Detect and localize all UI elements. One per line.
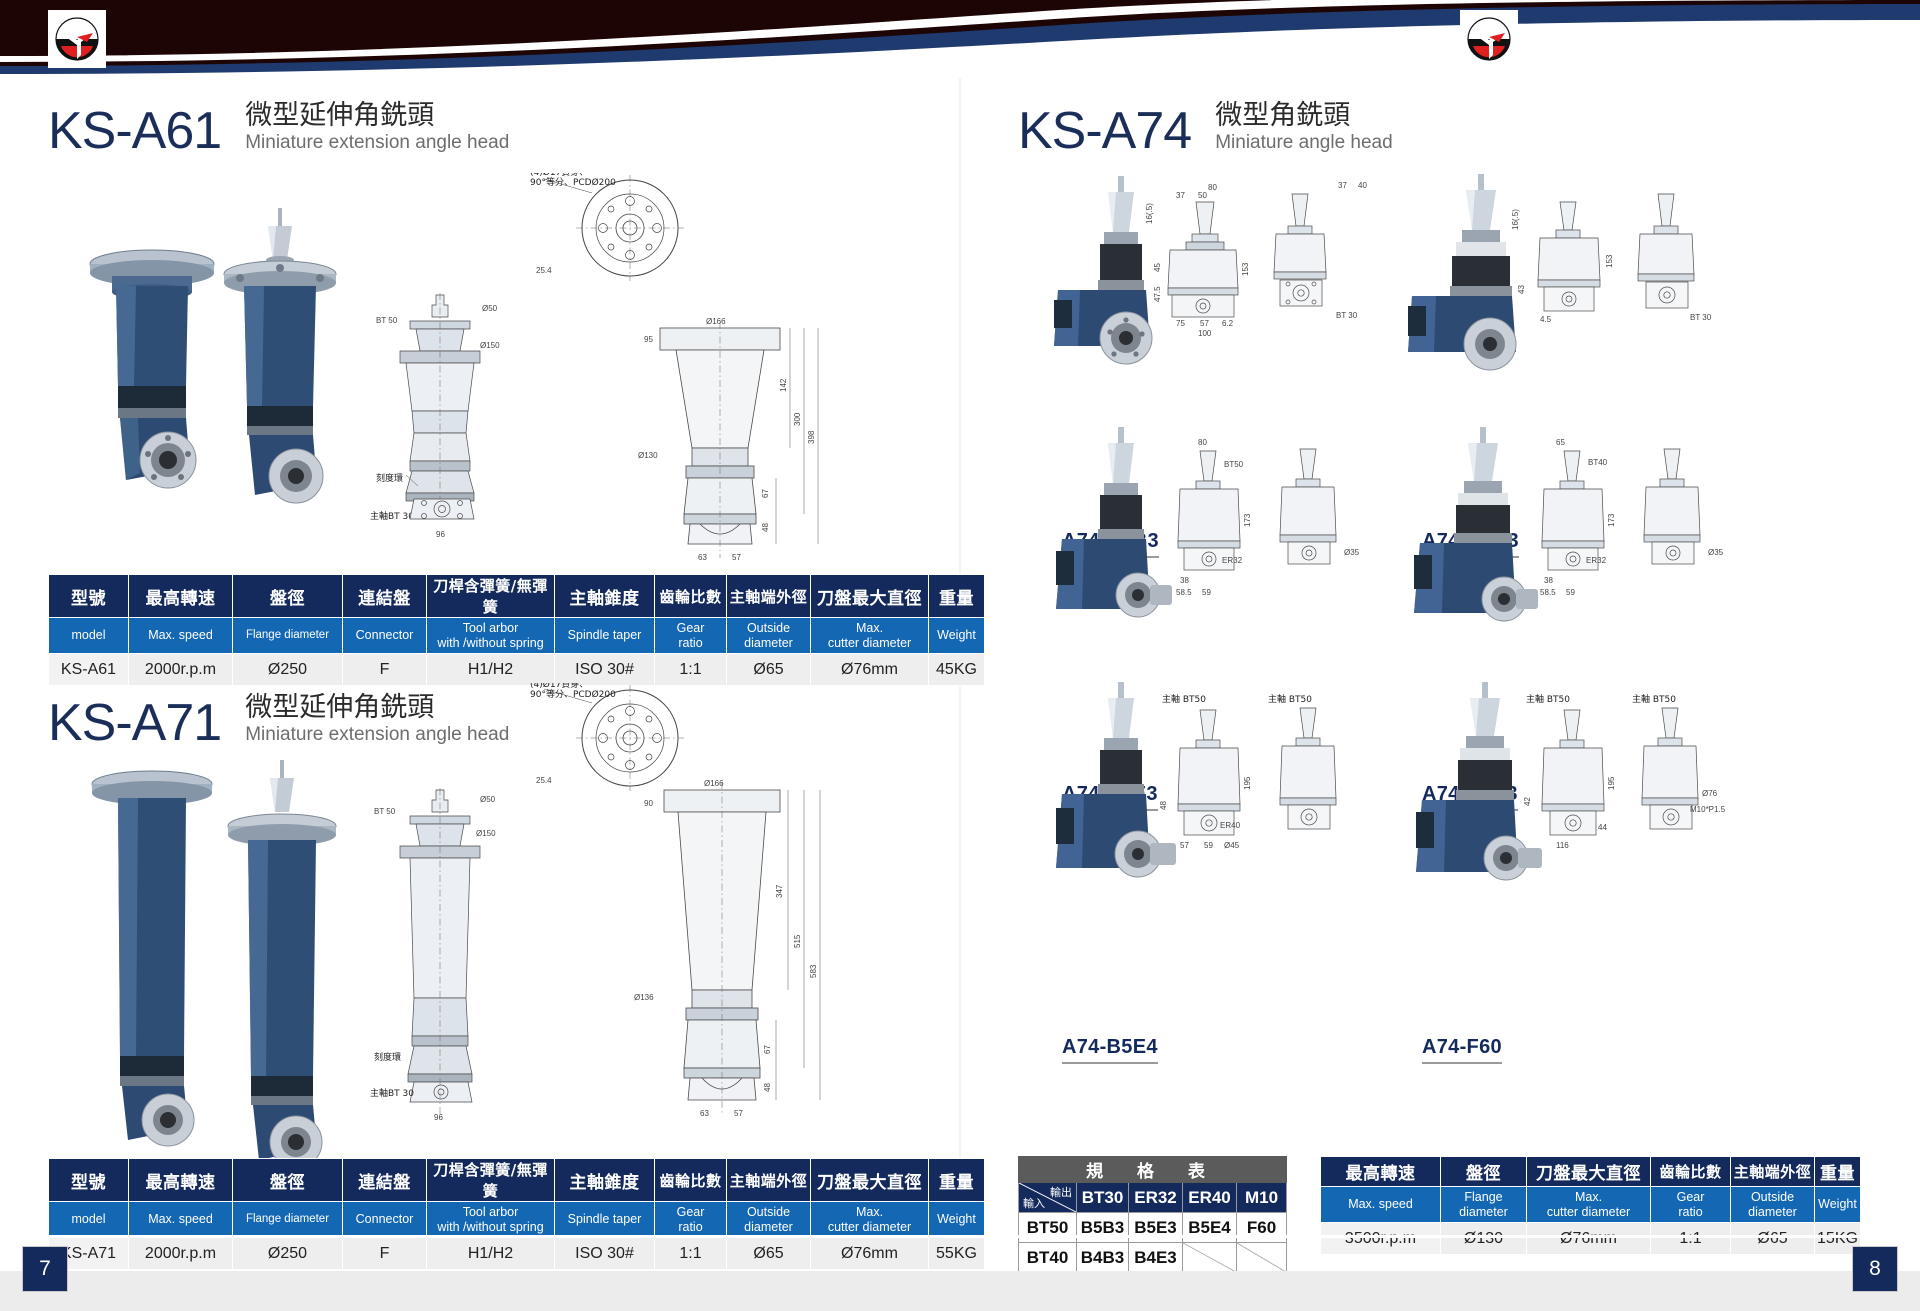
- th-cn-speed: 最高轉速: [1321, 1157, 1441, 1187]
- page-title: KS-A71: [48, 697, 221, 749]
- matrix-title: 規 格 表: [1019, 1157, 1287, 1183]
- dim-d35: Ø35: [1708, 548, 1724, 557]
- product-name-en: Miniature extension angle head: [245, 723, 509, 747]
- matrix-cell-empty: [1237, 1243, 1287, 1273]
- variant-label-a74-f60: A74-F60: [1422, 1036, 1502, 1064]
- th-en-flange: Flange diameter: [1441, 1187, 1527, 1223]
- matrix-row-bt40: BT40 B4B3 B4E3: [1019, 1243, 1287, 1273]
- th-en-cutter: Max. cutter diameter: [811, 1202, 929, 1238]
- catalog-spread: KS-A61 微型延伸角銑頭 Miniature extension angle…: [0, 78, 1920, 1235]
- product-title-ks-a74: KS-A74 微型角銑頭 Miniature angle head: [1018, 100, 1393, 157]
- dim-62: 6.2: [1222, 319, 1234, 328]
- label-spindle-bt50b: 主軸 BT50: [1268, 693, 1312, 705]
- dim-142: 142: [779, 378, 788, 392]
- td-flange: Ø250: [233, 1238, 343, 1270]
- th-en-cutter: Max. cutter diameter: [1527, 1187, 1651, 1223]
- variant-art-a74-b5e3: 80 BT50 173 38 ER32 58.5 59 Ø35: [1000, 423, 1380, 673]
- matrix-row-label: BT50: [1019, 1213, 1077, 1243]
- dim-59: 59: [1204, 841, 1213, 850]
- dim-67: 67: [763, 1045, 772, 1054]
- dim-er40: ER40: [1220, 821, 1241, 830]
- spec-table-ks-a71: 型號 最高轉速 盤徑 連結盤 刀桿含彈簧/無彈簧 主軸錐度 齒輪比數 主軸端外徑…: [48, 1158, 985, 1270]
- variant-art-a74-b4e3: 65 BT40 173 38 ER32 58.5 59 Ø35: [1360, 423, 1740, 673]
- dim-1645: 16(.5): [1511, 209, 1520, 230]
- dim-195: 195: [1607, 776, 1616, 790]
- td-speed: 3500r.p.m: [1321, 1223, 1441, 1255]
- dim-48: 48: [761, 523, 770, 532]
- company-logo-icon: [1465, 15, 1513, 63]
- matrix-title-row: 規 格 表: [1019, 1157, 1287, 1183]
- dim-note-holes2: 90°等分、PCDØ200: [530, 688, 616, 700]
- dim-d35: Ø35: [1344, 548, 1360, 557]
- company-logo-left: [48, 10, 106, 68]
- spec-table-ks-a61: 型號 最高轉速 盤徑 連結盤 刀桿含彈簧/無彈簧 主軸錐度 齒輪比數 主軸端外徑…: [48, 574, 985, 686]
- product-name-cn: 微型角銑頭: [1215, 100, 1392, 131]
- dim-bt50: BT 50: [374, 807, 396, 816]
- matrix-cell: B5E3: [1129, 1213, 1183, 1243]
- matrix-col-er40: ER40: [1183, 1183, 1237, 1213]
- matrix-cell: B4B3: [1077, 1243, 1129, 1273]
- th-cn-speed: 最高轉速: [129, 575, 233, 618]
- label-spindle-bt50: 主軸 BT50: [1526, 693, 1570, 705]
- matrix-row-label: BT40: [1019, 1243, 1077, 1273]
- matrix-cell: B5B3: [1077, 1213, 1129, 1243]
- variant-art-a74-b5b3: 37 50 80 16(.5) 45 47.5 153 75 57 6.2 10…: [1000, 168, 1380, 418]
- left-page: KS-A61 微型延伸角銑頭 Miniature extension angle…: [0, 78, 960, 1235]
- th-en-gear: Gear ratio: [655, 1202, 727, 1238]
- company-logo-right: [1460, 10, 1518, 68]
- dim-bt50: BT 50: [376, 316, 398, 325]
- th-cn-connector: 連結盤: [343, 1159, 427, 1202]
- th-cn-taper: 主軸錐度: [555, 575, 655, 618]
- spec-matrix-table: 規 格 表 輸出 輸入 BT30 ER32 ER40 M10 BT50 B5B3…: [1018, 1156, 1287, 1273]
- th-en-flange: Flange diameter: [233, 618, 343, 654]
- label-scale-ring: 刻度環: [376, 472, 403, 484]
- product-photo-ks-a61: [40, 168, 360, 538]
- td-taper: ISO 30#: [555, 1238, 655, 1270]
- th-en-speed: Max. speed: [129, 1202, 233, 1238]
- dim-d50: Ø50: [482, 304, 498, 313]
- dim-153: 153: [1605, 254, 1614, 268]
- dim-96: 96: [434, 1113, 443, 1122]
- matrix-col-er32: ER32: [1129, 1183, 1183, 1213]
- dim-bt40: BT40: [1588, 458, 1608, 467]
- technical-drawing-elevation-ks-a71: Ø166 Ø136 347 515 583 67 48 90 63 57: [630, 778, 860, 1158]
- matrix-cell: B5E4: [1183, 1213, 1237, 1243]
- dim-48: 48: [1159, 801, 1168, 810]
- page-number-left: 7: [22, 1246, 68, 1292]
- td-outside: Ø65: [1731, 1223, 1815, 1255]
- company-logo-icon: [53, 15, 101, 63]
- page-title: KS-A74: [1018, 105, 1191, 157]
- dim-bt50: BT50: [1224, 460, 1244, 469]
- th-cn-cutter: 刀盤最大直徑: [811, 575, 929, 618]
- dim-43: 43: [1517, 285, 1526, 294]
- th-cn-model: 型號: [49, 575, 129, 618]
- th-cn-gear: 齒輪比數: [655, 1159, 727, 1202]
- td-outside: Ø65: [727, 1238, 811, 1270]
- th-en-connector: Connector: [343, 1202, 427, 1238]
- dim-1645: 16(.5): [1145, 203, 1154, 224]
- th-en-gear: Gear ratio: [655, 618, 727, 654]
- label-spindle-bt50: 主軸 BT50: [1162, 693, 1206, 705]
- th-en-outside: Outside diameter: [727, 618, 811, 654]
- dim-254: 25.4: [536, 776, 552, 785]
- dim-95: 95: [644, 335, 653, 344]
- table-row: 3500r.p.m Ø130 Ø76mm 1:1 Ø65 15KG: [1321, 1223, 1861, 1255]
- right-page: KS-A74 微型角銑頭 Miniature angle head: [960, 78, 1920, 1235]
- th-en-cutter: Max. cutter diameter: [811, 618, 929, 654]
- th-en-flange: Flange diameter: [233, 1202, 343, 1238]
- th-cn-arbor: 刀桿含彈簧/無彈簧: [427, 1159, 555, 1202]
- dim-153: 153: [1241, 262, 1250, 276]
- th-cn-model: 型號: [49, 1159, 129, 1202]
- top-banner: [0, 0, 1920, 78]
- th-cn-flange: 盤徑: [1441, 1157, 1527, 1187]
- dim-585: 58.5: [1540, 588, 1556, 597]
- dim-585: 58.5: [1176, 588, 1192, 597]
- dim-42: 42: [1523, 797, 1532, 806]
- dim-116: 116: [1556, 841, 1569, 850]
- dim-173: 173: [1607, 513, 1616, 527]
- matrix-cell: F60: [1237, 1213, 1287, 1243]
- dim-57: 57: [734, 1109, 743, 1118]
- td-speed: 2000r.p.m: [129, 654, 233, 686]
- dim-96: 96: [436, 530, 445, 539]
- table-header-row-cn: 型號 最高轉速 盤徑 連結盤 刀桿含彈簧/無彈簧 主軸錐度 齒輪比數 主軸端外徑…: [49, 575, 985, 618]
- dim-300: 300: [793, 412, 802, 426]
- dim-48: 48: [763, 1083, 772, 1092]
- label-spindle-bt50b: 主軸 BT50: [1632, 693, 1676, 705]
- td-connector: F: [343, 654, 427, 686]
- th-en-model: model: [49, 1202, 129, 1238]
- dim-254: 25.4: [536, 266, 552, 275]
- dim-note-holes: (4)Ø17貫穿、: [530, 683, 588, 690]
- th-cn-gear: 齒輪比數: [655, 575, 727, 618]
- th-en-arbor: Tool arbor with /without spring: [427, 618, 555, 654]
- th-cn-cutter: 刀盤最大直徑: [811, 1159, 929, 1202]
- td-gear: 1:1: [655, 654, 727, 686]
- dim-note-holes2: 90°等分、PCDØ200: [530, 176, 616, 188]
- dim-63: 63: [698, 553, 707, 562]
- dim-75: 75: [1176, 319, 1185, 328]
- dim-50: 50: [1198, 191, 1207, 200]
- dim-38: 38: [1544, 576, 1553, 585]
- td-flange: Ø250: [233, 654, 343, 686]
- matrix-cell-empty: [1183, 1243, 1237, 1273]
- th-cn-outside: 主軸端外徑: [727, 575, 811, 618]
- technical-drawing-section-ks-a71: BT 50 Ø150 Ø50 刻度環 主軸BT 30 96: [370, 788, 660, 1158]
- product-title-ks-a71: KS-A71 微型延伸角銑頭 Miniature extension angle…: [48, 692, 509, 749]
- matrix-header-row: 輸出 輸入 BT30 ER32 ER40 M10: [1019, 1183, 1287, 1213]
- page-title: KS-A61: [48, 105, 221, 157]
- td-weight: 55KG: [929, 1238, 985, 1270]
- dim-59: 59: [1202, 588, 1211, 597]
- td-cutter: Ø76mm: [811, 654, 929, 686]
- td-outside: Ø65: [727, 654, 811, 686]
- td-speed: 2000r.p.m: [129, 1238, 233, 1270]
- td-connector: F: [343, 1238, 427, 1270]
- dim-45: 45: [1153, 263, 1162, 272]
- table-row: KS-A71 2000r.p.m Ø250 F H1/H2 ISO 30# 1:…: [49, 1238, 985, 1270]
- footer-strip: [0, 1271, 1920, 1311]
- dim-67: 67: [761, 489, 770, 498]
- th-en-gear: Gear ratio: [1651, 1187, 1731, 1223]
- th-cn-gear: 齒輪比數: [1651, 1157, 1731, 1187]
- variant-art-a74-b4b3: 16(.5) 153 43 4.5 BT 30: [1360, 168, 1740, 418]
- th-cn-flange: 盤徑: [233, 575, 343, 618]
- td-gear: 1:1: [1651, 1223, 1731, 1255]
- table-header-row-cn: 型號 最高轉速 盤徑 連結盤 刀桿含彈簧/無彈簧 主軸錐度 齒輪比數 主軸端外徑…: [49, 1159, 985, 1202]
- page-number-right: 8: [1852, 1246, 1898, 1292]
- dim-90: 90: [644, 799, 653, 808]
- dim-d150: Ø150: [476, 829, 496, 838]
- technical-drawing-elevation-ks-a61: Ø166 Ø130 142 300 398 67 48 95 63 57: [630, 318, 860, 578]
- dim-57: 57: [1200, 319, 1209, 328]
- dim-38: 38: [1180, 576, 1189, 585]
- table-row: KS-A61 2000r.p.m Ø250 F H1/H2 ISO 30# 1:…: [49, 654, 985, 686]
- table-header-row-en: model Max. speed Flange diameter Connect…: [49, 1202, 985, 1238]
- td-cutter: Ø76mm: [811, 1238, 929, 1270]
- dim-d45: Ø45: [1224, 841, 1240, 850]
- footer-divider: [0, 1235, 1920, 1238]
- dim-er32: ER32: [1222, 556, 1243, 565]
- th-cn-taper: 主軸錐度: [555, 1159, 655, 1202]
- dim-80: 80: [1198, 438, 1207, 447]
- dim-37b: 37: [1338, 181, 1347, 190]
- table-header-row-cn: 最高轉速 盤徑 刀盤最大直徑 齒輪比數 主軸端外徑 重量: [1321, 1157, 1861, 1187]
- dim-d50: Ø50: [480, 795, 496, 804]
- dim-80: 80: [1208, 183, 1217, 192]
- matrix-corner-output: 輸出: [1050, 1184, 1072, 1200]
- dim-65: 65: [1556, 438, 1565, 447]
- matrix-col-m10: M10: [1237, 1183, 1287, 1213]
- th-cn-outside: 主軸端外徑: [727, 1159, 811, 1202]
- technical-drawing-topview-ks-a61: (4)Ø17貫穿、 90°等分、PCDØ200 25.4: [530, 173, 740, 293]
- td-taper: ISO 30#: [555, 654, 655, 686]
- dim-bt30: BT 30: [1690, 313, 1712, 322]
- label-scale-ring: 刻度環: [374, 1051, 401, 1063]
- dim-d150: Ø150: [480, 341, 500, 350]
- dim-475: 47.5: [1153, 286, 1162, 302]
- dim-d166: Ø166: [704, 779, 724, 788]
- label-spindle-bt30: 主軸BT 30: [370, 510, 414, 522]
- dim-583: 583: [809, 964, 818, 978]
- th-en-arbor: Tool arbor with /without spring: [427, 1202, 555, 1238]
- table-header-row-en: Max. speed Flange diameter Max. cutter d…: [1321, 1187, 1861, 1223]
- banner-swoosh: [0, 0, 1920, 78]
- product-name-en: Miniature extension angle head: [245, 131, 509, 155]
- technical-drawing-section-ks-a61: BT 50 Ø150 Ø50 刻度環 主軸BT 30 96: [370, 293, 660, 583]
- th-en-speed: Max. speed: [129, 618, 233, 654]
- dim-d166: Ø166: [706, 318, 726, 326]
- dim-d136: Ø136: [634, 993, 654, 1002]
- th-en-taper: Spindle taper: [555, 618, 655, 654]
- th-cn-cutter: 刀盤最大直徑: [1527, 1157, 1651, 1187]
- th-cn-connector: 連結盤: [343, 575, 427, 618]
- dim-d130: Ø130: [638, 451, 658, 460]
- th-en-outside: Outside diameter: [1731, 1187, 1815, 1223]
- variant-art-a74-b5e4: 主軸 BT50 195 48 ER40 57 59 Ø45 主軸 BT50: [1000, 678, 1380, 928]
- td-flange: Ø130: [1441, 1223, 1527, 1255]
- th-en-model: model: [49, 618, 129, 654]
- product-photo-ks-a71: [40, 756, 360, 1196]
- dim-57: 57: [732, 553, 741, 562]
- th-cn-flange: 盤徑: [233, 1159, 343, 1202]
- dim-bt30: BT 30: [1336, 311, 1358, 320]
- th-en-taper: Spindle taper: [555, 1202, 655, 1238]
- dim-173: 173: [1243, 513, 1252, 527]
- th-cn-speed: 最高轉速: [129, 1159, 233, 1202]
- product-title-ks-a61: KS-A61 微型延伸角銑頭 Miniature extension angle…: [48, 100, 509, 157]
- matrix-corner-cell: 輸出 輸入: [1019, 1183, 1077, 1213]
- th-en-weight: Weight: [1815, 1187, 1861, 1223]
- dim-er32: ER32: [1586, 556, 1607, 565]
- matrix-col-bt30: BT30: [1077, 1183, 1129, 1213]
- table-header-row-en: model Max. speed Flange diameter Connect…: [49, 618, 985, 654]
- product-name-cn: 微型延伸角銑頭: [245, 100, 509, 131]
- dim-63: 63: [700, 1109, 709, 1118]
- th-cn-outside: 主軸端外徑: [1731, 1157, 1815, 1187]
- td-cutter: Ø76mm: [1527, 1223, 1651, 1255]
- dim-347: 347: [775, 884, 784, 898]
- variant-art-a74-f60: 主軸 BT50 195 42 116 44 主軸 BT50 M10*P1.5 Ø…: [1360, 678, 1740, 928]
- th-cn-arbor: 刀桿含彈簧/無彈簧: [427, 575, 555, 618]
- dim-515: 515: [793, 934, 802, 948]
- dim-398: 398: [807, 430, 816, 444]
- td-model: KS-A61: [49, 654, 129, 686]
- td-arbor: H1/H2: [427, 1238, 555, 1270]
- matrix-row-bt50: BT50 B5B3 B5E3 B5E4 F60: [1019, 1213, 1287, 1243]
- spec-table-ks-a74: 最高轉速 盤徑 刀盤最大直徑 齒輪比數 主軸端外徑 重量 Max. speed …: [1320, 1156, 1861, 1255]
- th-en-outside: Outside diameter: [727, 1202, 811, 1238]
- product-name-cn: 微型延伸角銑頭: [245, 692, 509, 723]
- dim-195: 195: [1243, 776, 1252, 790]
- th-en-connector: Connector: [343, 618, 427, 654]
- matrix-cell: B4E3: [1129, 1243, 1183, 1273]
- td-gear: 1:1: [655, 1238, 727, 1270]
- dim-m10: M10*P1.5: [1690, 805, 1726, 814]
- product-name-en: Miniature angle head: [1215, 131, 1392, 155]
- dim-45: 4.5: [1540, 315, 1552, 324]
- td-arbor: H1/H2: [427, 654, 555, 686]
- dim-57: 57: [1180, 841, 1189, 850]
- dim-d76: Ø76: [1702, 789, 1718, 798]
- dim-37: 37: [1176, 191, 1185, 200]
- dim-100: 100: [1198, 329, 1212, 338]
- matrix-corner-input: 輸入: [1023, 1195, 1045, 1211]
- dim-59: 59: [1566, 588, 1575, 597]
- dim-44: 44: [1598, 823, 1607, 832]
- th-cn-weight: 重量: [1815, 1157, 1861, 1187]
- th-en-speed: Max. speed: [1321, 1187, 1441, 1223]
- variant-label-a74-b5e4: A74-B5E4: [1062, 1036, 1158, 1064]
- label-spindle-bt30: 主軸BT 30: [370, 1087, 414, 1099]
